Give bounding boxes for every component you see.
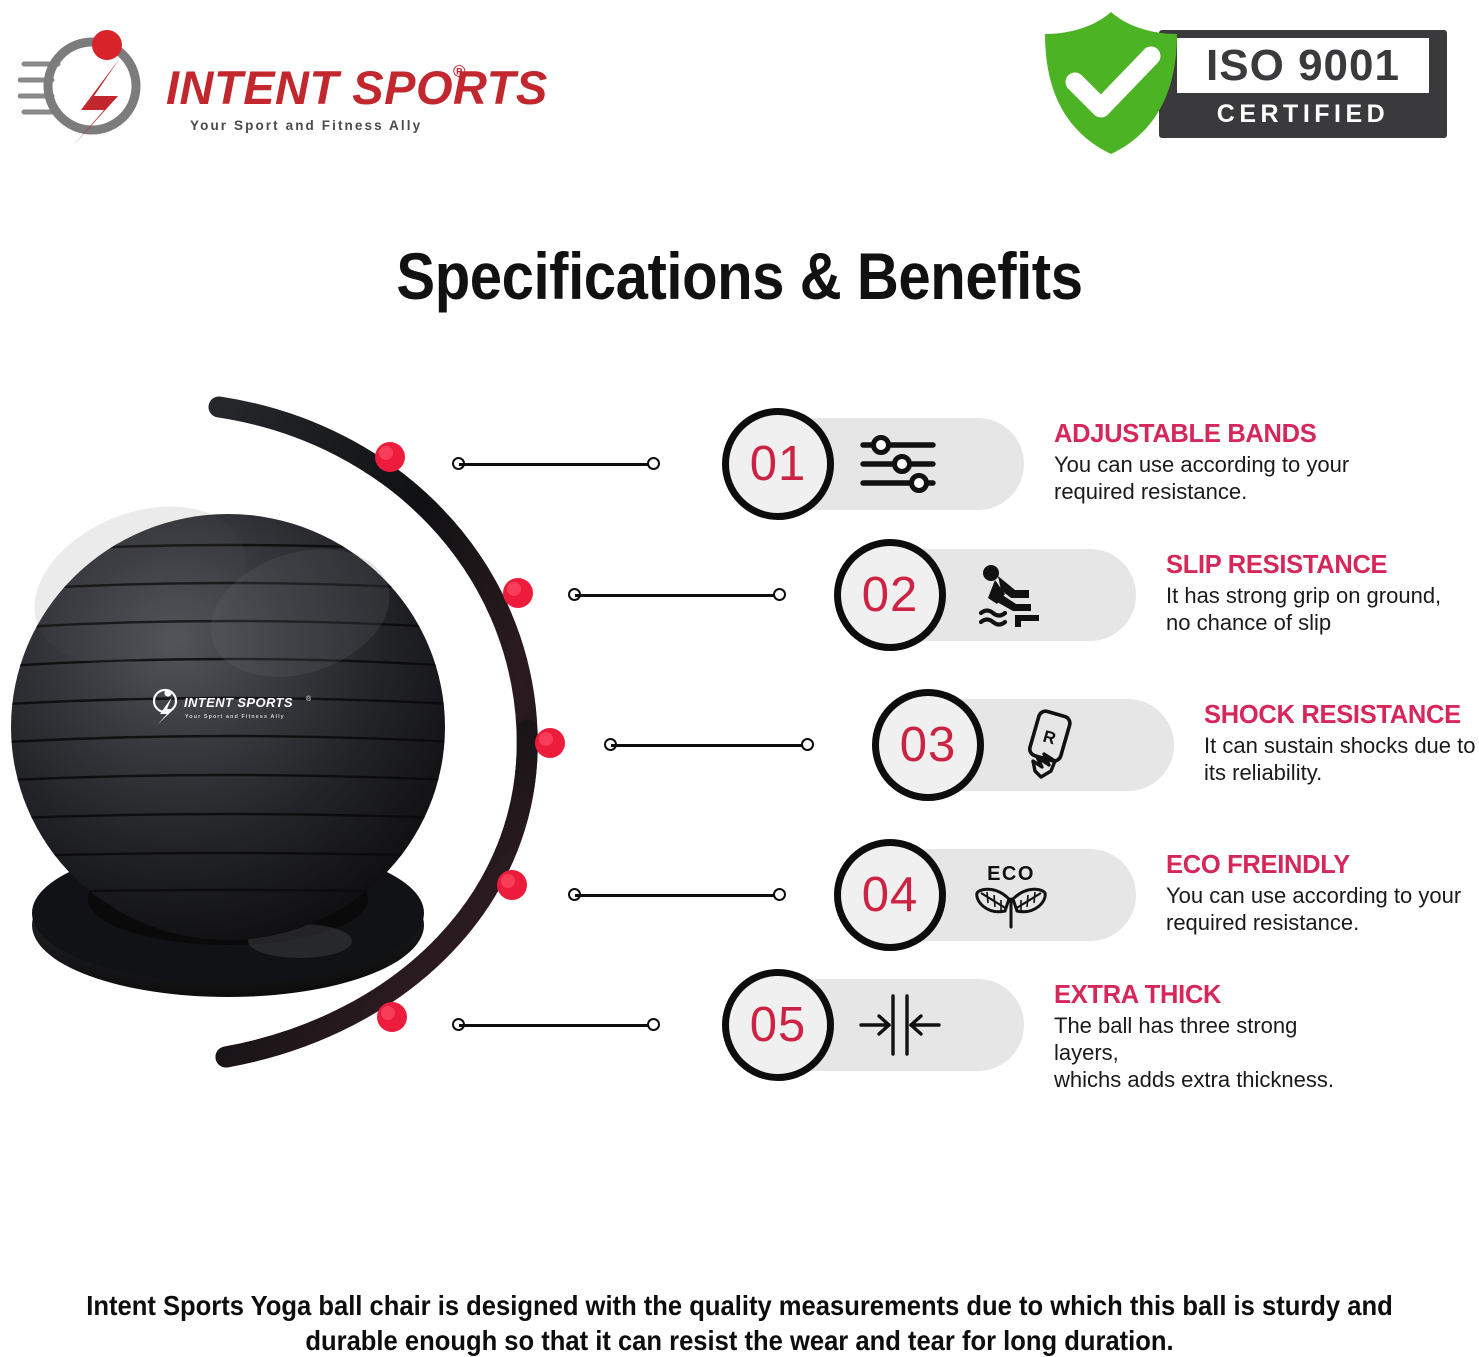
- feature-text-block: ADJUSTABLE BANDS You can use according t…: [1054, 420, 1364, 506]
- feature-body-line-1: You can use according to your: [1054, 452, 1364, 479]
- feature-body: You can use according to your required r…: [1166, 883, 1476, 937]
- feature-number: 04: [862, 871, 919, 920]
- feature-body-line-1: It has strong grip on ground,: [1166, 583, 1476, 610]
- feature-body: The ball has three strong layers, whichs…: [1054, 1013, 1364, 1093]
- sliders-adjust-icon: [854, 428, 944, 500]
- feature-body-line-1: It can sustain shocks due to: [1204, 733, 1479, 760]
- leader-line-stroke: [611, 744, 807, 747]
- leader-dot-end: [647, 1018, 660, 1031]
- leader-line-01: [452, 457, 660, 471]
- footer-line-1: Intent Sports Yoga ball chair is designe…: [52, 1288, 1427, 1323]
- shield-check-icon: [1031, 8, 1191, 158]
- feature-number: 03: [900, 721, 957, 770]
- feature-number-badge: 05: [722, 969, 834, 1081]
- feature-number-badge: 01: [722, 408, 834, 520]
- iso-certified-label: CERTIFIED: [1217, 102, 1389, 127]
- footer-caption: Intent Sports Yoga ball chair is designe…: [52, 1288, 1427, 1357]
- leader-line-stroke: [459, 463, 653, 466]
- feature-number-badge: 03: [872, 689, 984, 801]
- feature-body-line-1: The ball has three strong layers,: [1054, 1013, 1364, 1067]
- running-figure-lightning-logo-icon: [18, 18, 168, 148]
- leader-dot-end: [773, 888, 786, 901]
- feature-text-block: SHOCK RESISTANCE It can sustain shocks d…: [1204, 701, 1479, 787]
- feature-title: ADJUSTABLE BANDS: [1054, 420, 1364, 448]
- feature-title: ECO FREINDLY: [1166, 851, 1476, 879]
- iso-panel: ISO 9001 CERTIFIED: [1159, 30, 1447, 138]
- leader-dot-end: [773, 588, 786, 601]
- thickness-caliper-icon: [854, 989, 944, 1061]
- svg-text:INTENT SPORTS: INTENT SPORTS: [184, 695, 293, 710]
- page-title: Specifications & Benefits: [89, 238, 1391, 314]
- slip-fall-warning-icon: [966, 559, 1056, 631]
- svg-text:Your Sport and Fitness Ally: Your Sport and Fitness Ally: [185, 714, 285, 720]
- svg-text:®: ®: [306, 695, 312, 703]
- feature-body-line-2: whichs adds extra thickness.: [1054, 1067, 1364, 1094]
- iso-certified-box: CERTIFIED: [1177, 98, 1429, 130]
- feature-text-block: ECO FREINDLY You can use according to yo…: [1166, 851, 1476, 937]
- svg-text:R: R: [1041, 727, 1058, 749]
- feature-body: It has strong grip on ground, no chance …: [1166, 583, 1476, 637]
- leader-line-02: [568, 588, 786, 602]
- feature-body: It can sustain shocks due to its reliabi…: [1204, 733, 1479, 787]
- feature-number-badge: 02: [834, 539, 946, 651]
- feature-title: SLIP RESISTANCE: [1166, 551, 1476, 579]
- brand-name: INTENT SPORTS: [166, 60, 548, 115]
- feature-body: You can use according to your required r…: [1054, 452, 1364, 506]
- shock-impact-device-icon: R: [1004, 709, 1094, 781]
- feature-body-line-2: no chance of slip: [1166, 610, 1476, 637]
- feature-body-line-1: You can use according to your: [1166, 883, 1476, 910]
- eco-icon-label: ECO: [987, 863, 1035, 885]
- leader-line-05: [452, 1018, 660, 1032]
- iso-standard-box: ISO 9001: [1177, 38, 1429, 93]
- feature-title: SHOCK RESISTANCE: [1204, 701, 1479, 729]
- feature-body-line-2: required resistance.: [1054, 479, 1364, 506]
- feature-number: 05: [750, 1001, 807, 1050]
- leader-line-stroke: [575, 594, 779, 597]
- feature-title: EXTRA THICK: [1054, 981, 1364, 1009]
- brand-logo: INTENT SPORTS ® Your Sport and Fitness A…: [18, 18, 488, 148]
- feature-number-badge: 04: [834, 839, 946, 951]
- feature-number: 01: [750, 440, 807, 489]
- feature-body-line-2: required resistance.: [1166, 910, 1476, 937]
- leader-line-04: [568, 888, 786, 902]
- feature-text-block: EXTRA THICK The ball has three strong la…: [1054, 981, 1364, 1094]
- feature-body-line-2: its reliability.: [1204, 760, 1479, 787]
- leader-line-03: [604, 738, 814, 752]
- product-image: INTENT SPORTS Your Sport and Fitness All…: [0, 385, 620, 1085]
- eco-leaves-icon: ECO: [966, 859, 1056, 931]
- leader-dot-end: [801, 738, 814, 751]
- iso-standard-label: ISO 9001: [1206, 44, 1400, 88]
- registered-mark: ®: [453, 62, 466, 82]
- infographic-page: INTENT SPORTS ® Your Sport and Fitness A…: [0, 0, 1479, 1357]
- leader-dot-end: [647, 457, 660, 470]
- iso-certification-badge: ISO 9001 CERTIFIED: [1031, 8, 1451, 153]
- feature-number: 02: [862, 571, 919, 620]
- feature-text-block: SLIP RESISTANCE It has strong grip on gr…: [1166, 551, 1476, 637]
- footer-line-2: durable enough so that it can resist the…: [52, 1323, 1427, 1357]
- leader-line-stroke: [575, 894, 779, 897]
- leader-line-stroke: [459, 1024, 653, 1027]
- brand-tagline: Your Sport and Fitness Ally: [190, 118, 422, 133]
